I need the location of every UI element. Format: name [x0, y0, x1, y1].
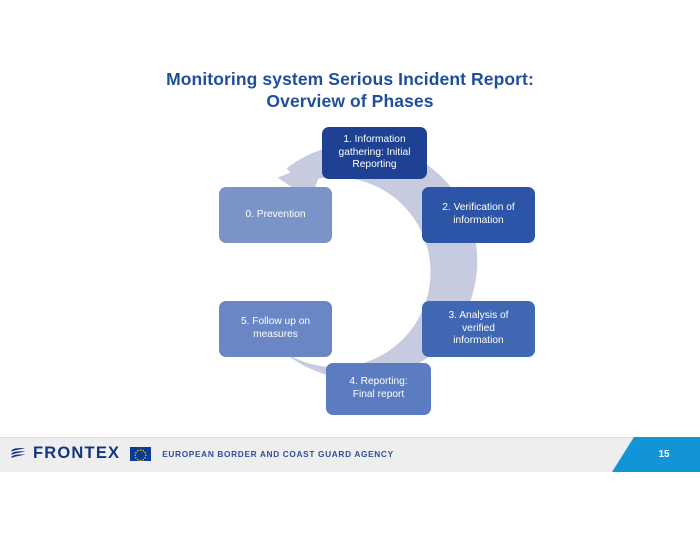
slide-canvas: Monitoring system Serious Incident Repor… [0, 0, 700, 475]
page-title: Monitoring system Serious Incident Repor… [0, 68, 700, 112]
slide-outer-margin [0, 472, 700, 540]
cycle-node-1-line-2: gathering: Initial [339, 147, 411, 158]
cycle-node-4-line-2: Final report [353, 389, 405, 400]
cycle-node-5[interactable]: 5. Follow up on measures [219, 301, 332, 357]
footer-tagline: EUROPEAN BORDER AND COAST GUARD AGENCY [162, 448, 394, 460]
frontex-wordmark: FRONTEX [33, 445, 120, 462]
frontex-wave-icon [11, 447, 26, 461]
eu-flag-icon [130, 447, 151, 461]
cycle-node-4-line-1: 4. Reporting: [349, 376, 407, 387]
footer-divider [0, 437, 700, 438]
cycle-node-3-line-2: verified [462, 323, 495, 334]
cycle-node-1-line-1: 1. Information [343, 134, 405, 145]
cycle-node-1[interactable]: 1. Information gathering: Initial Report… [322, 127, 427, 179]
cycle-node-2[interactable]: 2. Verification of information [422, 187, 535, 243]
cycle-node-5-line-1: 5. Follow up on [241, 316, 310, 327]
brand-lockup: FRONTEX EUROPEAN BORDER AND COAST GUARD … [11, 445, 394, 462]
page-title-line-1: Monitoring system Serious Incident Repor… [0, 68, 700, 90]
cycle-node-2-line-2: information [453, 215, 503, 226]
page-number: 15 [612, 437, 700, 472]
cycle-node-1-line-3: Reporting [352, 159, 396, 170]
cycle-node-3-line-3: information [453, 335, 503, 346]
cycle-node-0-label: 0. Prevention [245, 209, 305, 220]
cycle-node-0[interactable]: 0. Prevention [219, 187, 332, 243]
footer-bar: FRONTEX EUROPEAN BORDER AND COAST GUARD … [0, 437, 700, 472]
page-title-line-2: Overview of Phases [0, 90, 700, 112]
cycle-node-3[interactable]: 3. Analysis of verified information [422, 301, 535, 357]
cycle-node-2-line-1: 2. Verification of [442, 202, 515, 213]
cycle-node-3-line-1: 3. Analysis of [448, 310, 508, 321]
cycle-node-4[interactable]: 4. Reporting: Final report [326, 363, 431, 415]
cycle-diagram: 1. Information gathering: Initial Report… [215, 125, 545, 415]
page-number-badge: 15 [612, 437, 700, 472]
cycle-node-5-line-2: measures [253, 329, 298, 340]
